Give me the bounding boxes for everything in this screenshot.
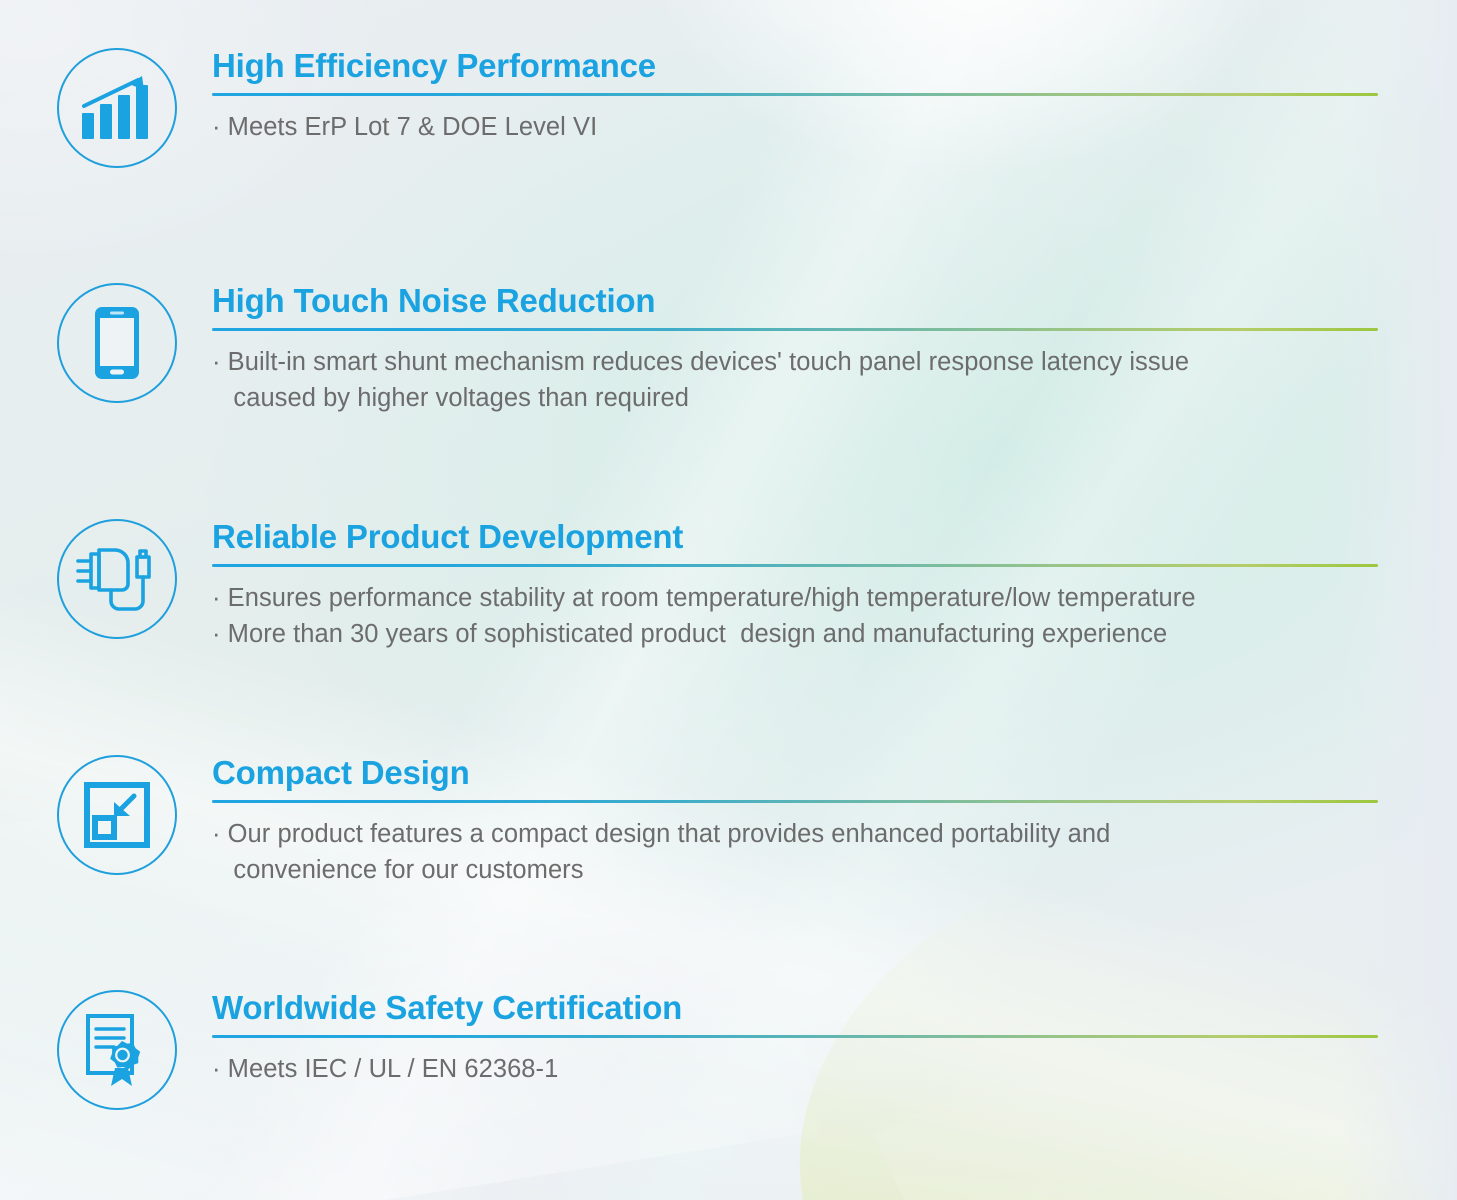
feature-line: · Ensures performance stability at room … xyxy=(212,580,1378,616)
feature-icon-wrap xyxy=(57,990,177,1110)
feature-icon-wrap xyxy=(57,755,177,875)
feature-title: Reliable Product Development xyxy=(212,519,1378,555)
feature-text-block: Reliable Product Development · Ensures p… xyxy=(212,519,1378,652)
feature-divider xyxy=(212,800,1378,803)
feature-description: · Meets ErP Lot 7 & DOE Level VI xyxy=(212,109,1378,145)
feature-text-block: Worldwide Safety Certification · Meets I… xyxy=(212,990,1378,1087)
feature-divider xyxy=(212,328,1378,331)
feature-line: · Built-in smart shunt mechanism reduces… xyxy=(212,344,1378,380)
certificate-award-icon xyxy=(57,990,177,1110)
feature-line: · Our product features a compact design … xyxy=(212,816,1378,852)
feature-description: · Our product features a compact design … xyxy=(212,816,1378,888)
power-adapter-icon xyxy=(57,519,177,639)
feature-title: Worldwide Safety Certification xyxy=(212,990,1378,1026)
feature-title: High Efficiency Performance xyxy=(212,48,1378,84)
feature-highlights-page: High Efficiency Performance · Meets ErP … xyxy=(0,0,1457,1200)
smartphone-icon xyxy=(57,283,177,403)
feature-text-block: Compact Design · Our product features a … xyxy=(212,755,1378,888)
feature-divider xyxy=(212,1035,1378,1038)
feature-line: caused by higher voltages than required xyxy=(212,380,1378,416)
feature-icon-wrap xyxy=(57,519,177,639)
feature-description: · Built-in smart shunt mechanism reduces… xyxy=(212,344,1378,416)
feature-description: · Ensures performance stability at room … xyxy=(212,580,1378,652)
feature-line: convenience for our customers xyxy=(212,852,1378,888)
feature-icon-wrap xyxy=(57,48,177,168)
compact-resize-icon xyxy=(57,755,177,875)
feature-line: · Meets IEC / UL / EN 62368-1 xyxy=(212,1051,1378,1087)
feature-divider xyxy=(212,93,1378,96)
feature-description: · Meets IEC / UL / EN 62368-1 xyxy=(212,1051,1378,1087)
feature-text-block: High Efficiency Performance · Meets ErP … xyxy=(212,48,1378,145)
feature-title: High Touch Noise Reduction xyxy=(212,283,1378,319)
feature-line: · Meets ErP Lot 7 & DOE Level VI xyxy=(212,109,1378,145)
bar-chart-growth-icon xyxy=(57,48,177,168)
feature-divider xyxy=(212,564,1378,567)
feature-text-block: High Touch Noise Reduction · Built-in sm… xyxy=(212,283,1378,416)
feature-icon-wrap xyxy=(57,283,177,403)
feature-line: · More than 30 years of sophisticated pr… xyxy=(212,616,1378,652)
feature-title: Compact Design xyxy=(212,755,1378,791)
